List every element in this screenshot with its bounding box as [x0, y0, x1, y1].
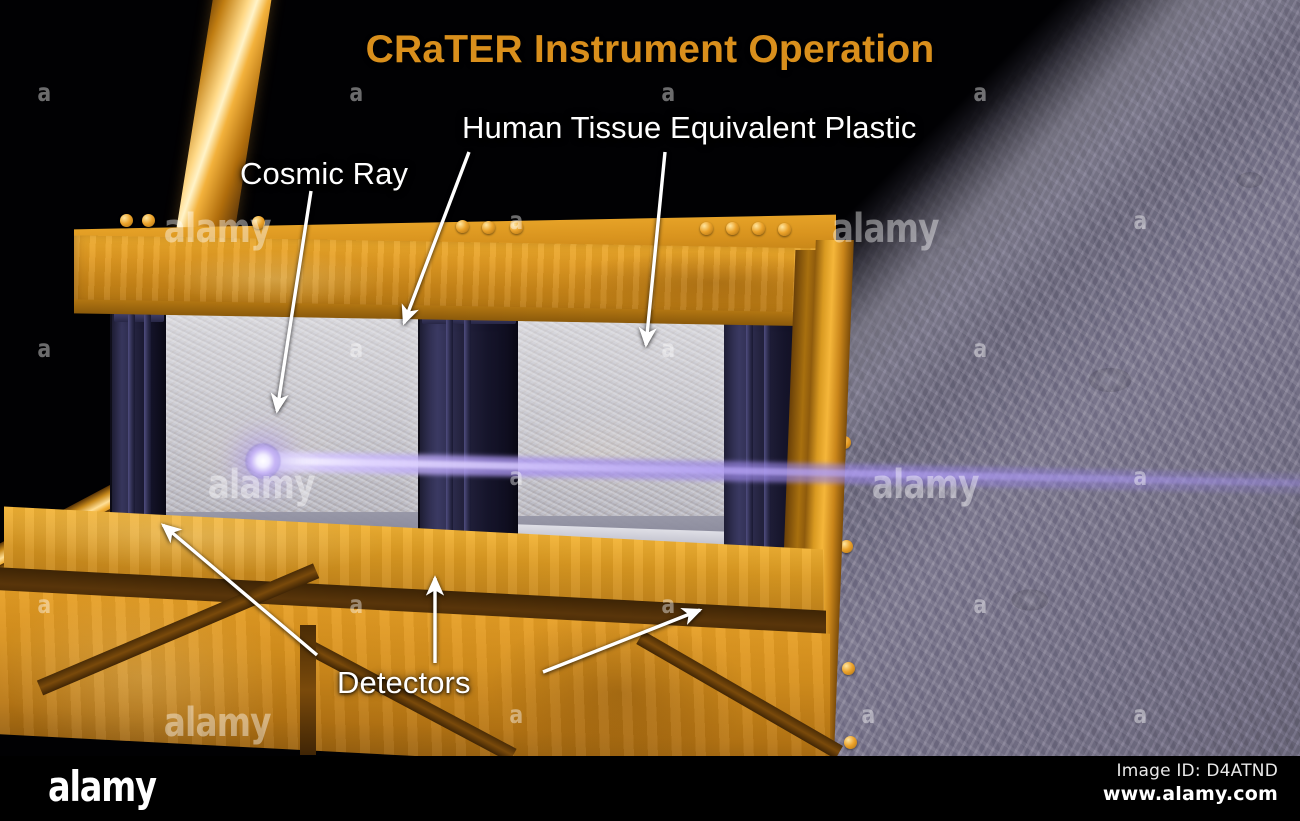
- page-title: CRaTER Instrument Operation: [0, 28, 1300, 72]
- chassis-bolt: [752, 222, 765, 235]
- chassis-bolt: [142, 214, 155, 227]
- chassis-bolt: [778, 223, 791, 236]
- illustration-scene: CRaTER Instrument Operation Human Tissue…: [0, 0, 1300, 756]
- image-id-text: Image ID: D4ATND: [1117, 761, 1279, 781]
- plastic-block-right: [516, 316, 726, 540]
- screenshot-root: CRaTER Instrument Operation Human Tissue…: [0, 0, 1300, 821]
- label-human-tissue-equivalent-plastic: Human Tissue Equivalent Plastic: [462, 110, 917, 146]
- chassis-strut-vertical: [300, 625, 316, 755]
- label-cosmic-ray: Cosmic Ray: [240, 156, 408, 192]
- alamy-footer-bar: alamy Image ID: D4ATND www.alamy.com: [0, 756, 1300, 821]
- cosmic-ray-particle: [245, 443, 281, 479]
- chassis-bolt: [120, 214, 133, 227]
- chassis-bolt: [844, 736, 857, 749]
- detector-middle-rail-b: [464, 316, 471, 558]
- detector-middle: [420, 312, 518, 562]
- detector-right-rail-a: [746, 316, 753, 560]
- chassis-bolt: [252, 216, 265, 229]
- chassis-bolt: [510, 221, 523, 234]
- chassis-bolt: [700, 222, 713, 235]
- alamy-website-link[interactable]: www.alamy.com: [1103, 783, 1278, 805]
- alamy-logo: alamy: [48, 762, 156, 811]
- detector-middle-rail-a: [446, 316, 453, 558]
- chassis-bolt: [482, 221, 495, 234]
- detector-right-rail-b: [764, 316, 771, 560]
- chassis-bolt: [726, 222, 739, 235]
- chassis-bolt: [456, 220, 469, 233]
- label-detectors: Detectors: [337, 665, 471, 701]
- plastic-block-left: [160, 314, 418, 536]
- chassis-bolt: [842, 662, 855, 675]
